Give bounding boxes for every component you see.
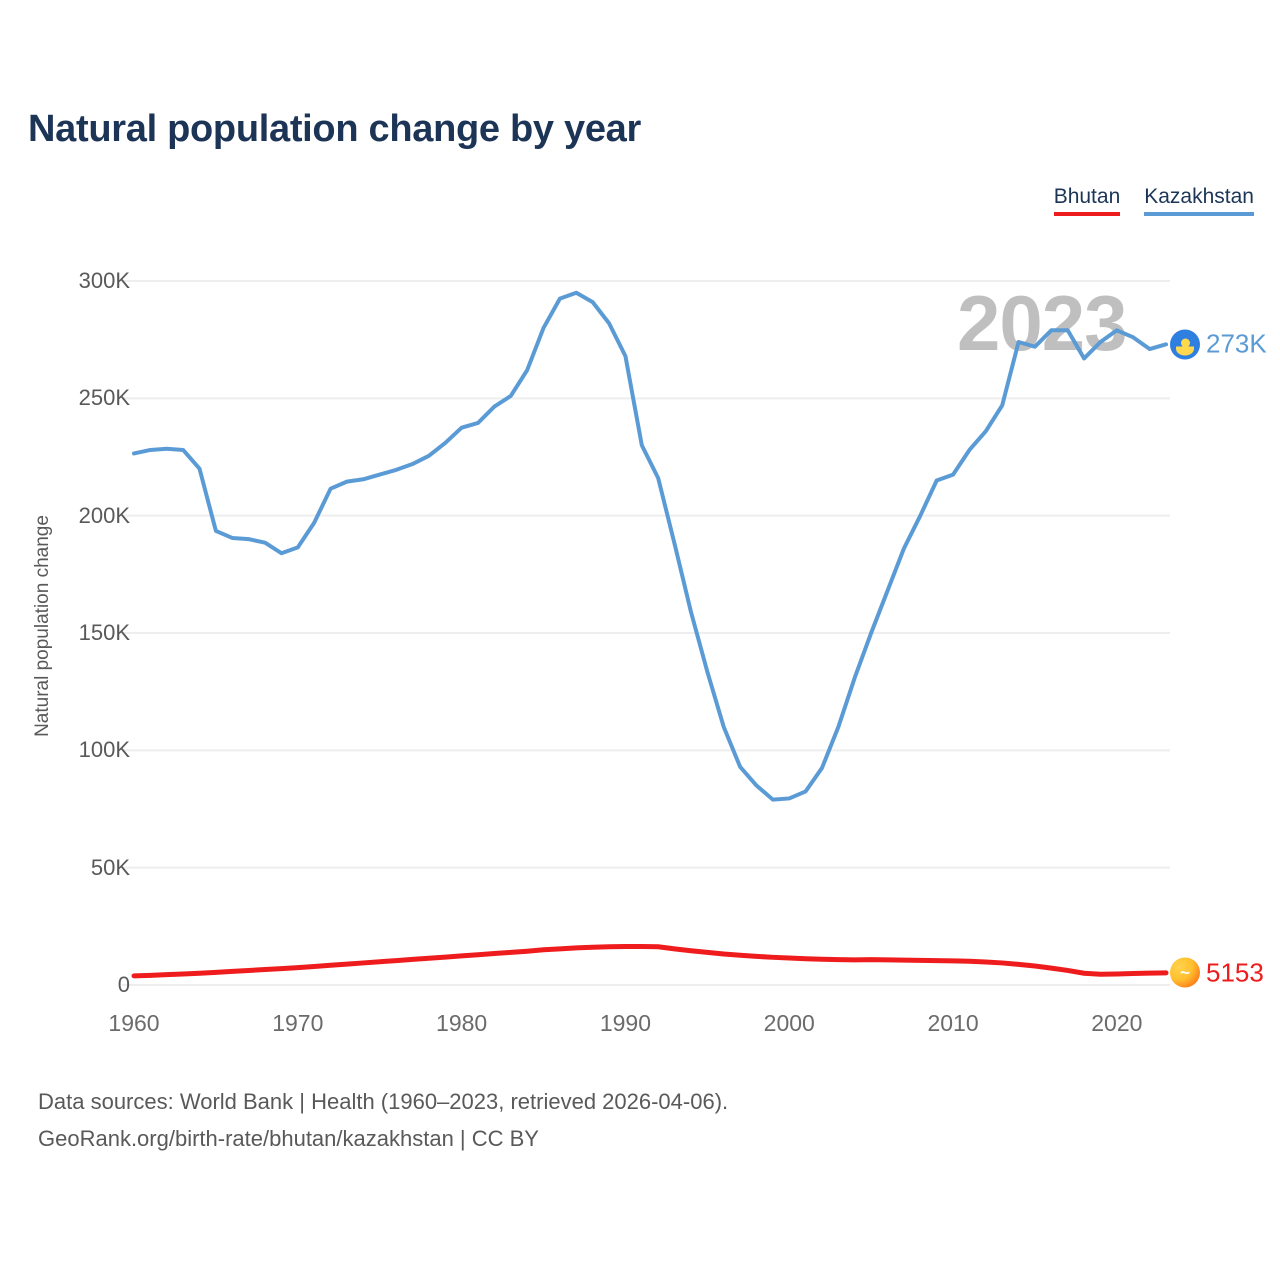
- chart-svg: [0, 0, 1280, 1280]
- bhutan-end-label: ~ 5153: [1170, 957, 1264, 988]
- x-tick-label: 2000: [764, 1010, 815, 1037]
- bhutan-flag-icon: ~: [1170, 958, 1200, 988]
- series-line-bhutan: [134, 947, 1166, 976]
- bhutan-end-value: 5153: [1206, 957, 1264, 988]
- kazakhstan-flag-icon: [1170, 329, 1200, 359]
- x-tick-label: 1960: [108, 1010, 159, 1037]
- y-tick-label: 250K: [30, 385, 130, 411]
- x-tick-label: 1980: [436, 1010, 487, 1037]
- series-line-kazakhstan: [134, 293, 1166, 800]
- x-tick-label: 1990: [600, 1010, 651, 1037]
- y-axis-label: Natural population change: [32, 481, 54, 771]
- footer-attribution: GeoRank.org/birth-rate/bhutan/kazakhstan…: [38, 1126, 539, 1152]
- y-tick-label: 50K: [30, 855, 130, 881]
- kazakhstan-end-value: 273K: [1206, 329, 1267, 360]
- chart-page: Natural population change by year Bhutan…: [0, 0, 1280, 1280]
- plot-area: [0, 0, 1280, 1280]
- x-tick-label: 2010: [927, 1010, 978, 1037]
- footer-data-sources: Data sources: World Bank | Health (1960–…: [38, 1089, 728, 1115]
- y-tick-label: 0: [30, 972, 130, 998]
- kazakhstan-end-label: 273K: [1170, 329, 1267, 360]
- x-tick-label: 1970: [272, 1010, 323, 1037]
- y-tick-label: 300K: [30, 268, 130, 294]
- x-tick-label: 2020: [1091, 1010, 1142, 1037]
